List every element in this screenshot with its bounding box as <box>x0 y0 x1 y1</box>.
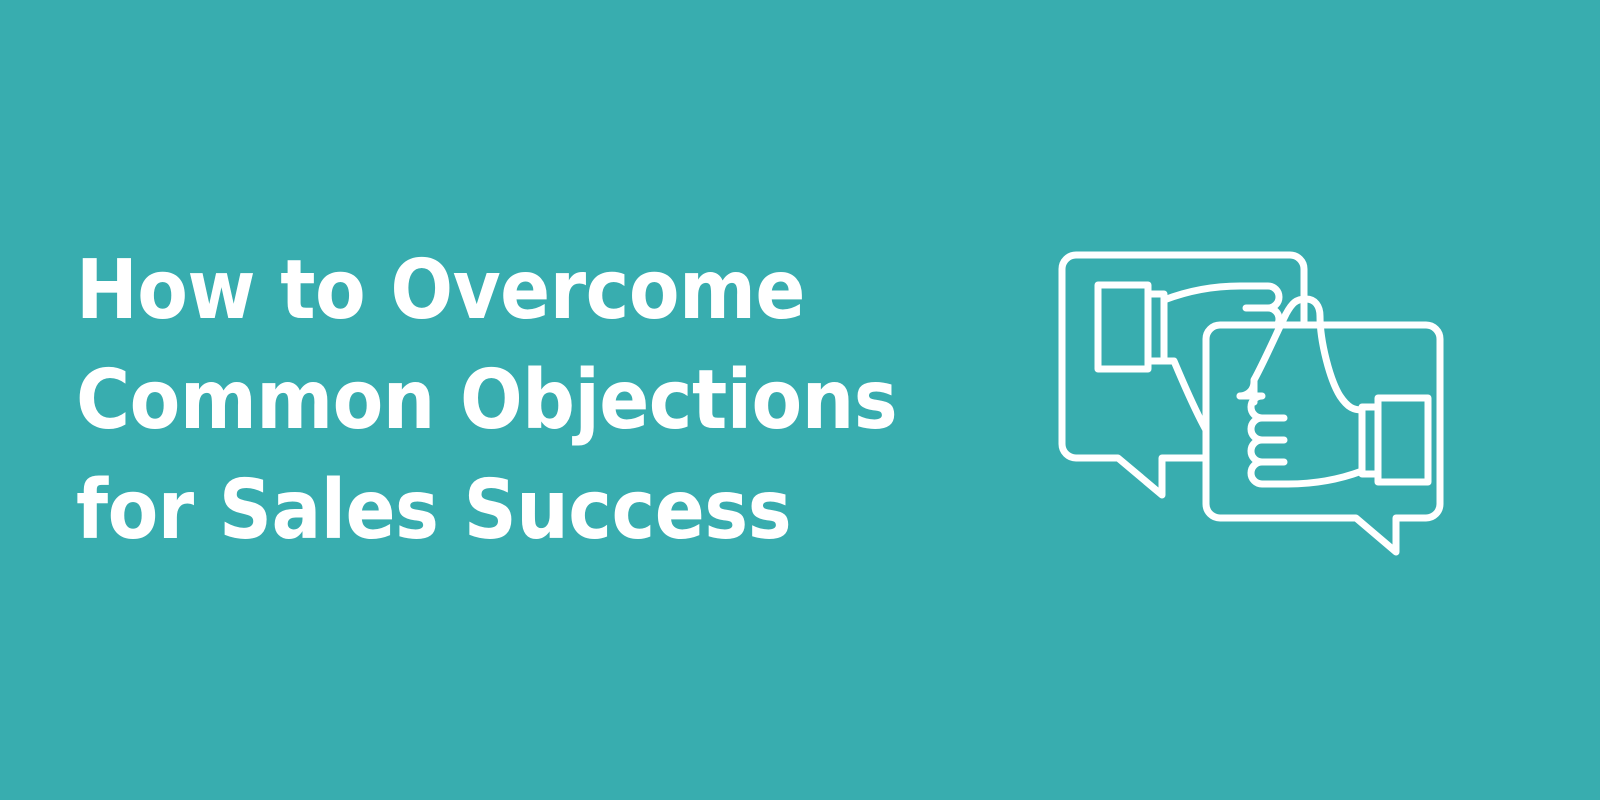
thumbs-down-knuckle-top <box>1164 286 1279 308</box>
speech-bubble-front-group <box>1206 299 1440 552</box>
page-title: How to Overcome Common Objections for Sa… <box>76 236 956 566</box>
banner: How to Overcome Common Objections for Sa… <box>0 0 1600 800</box>
speech-bubbles-thumbs-icon <box>1040 230 1460 570</box>
thumbs-down-cuff <box>1098 285 1148 369</box>
